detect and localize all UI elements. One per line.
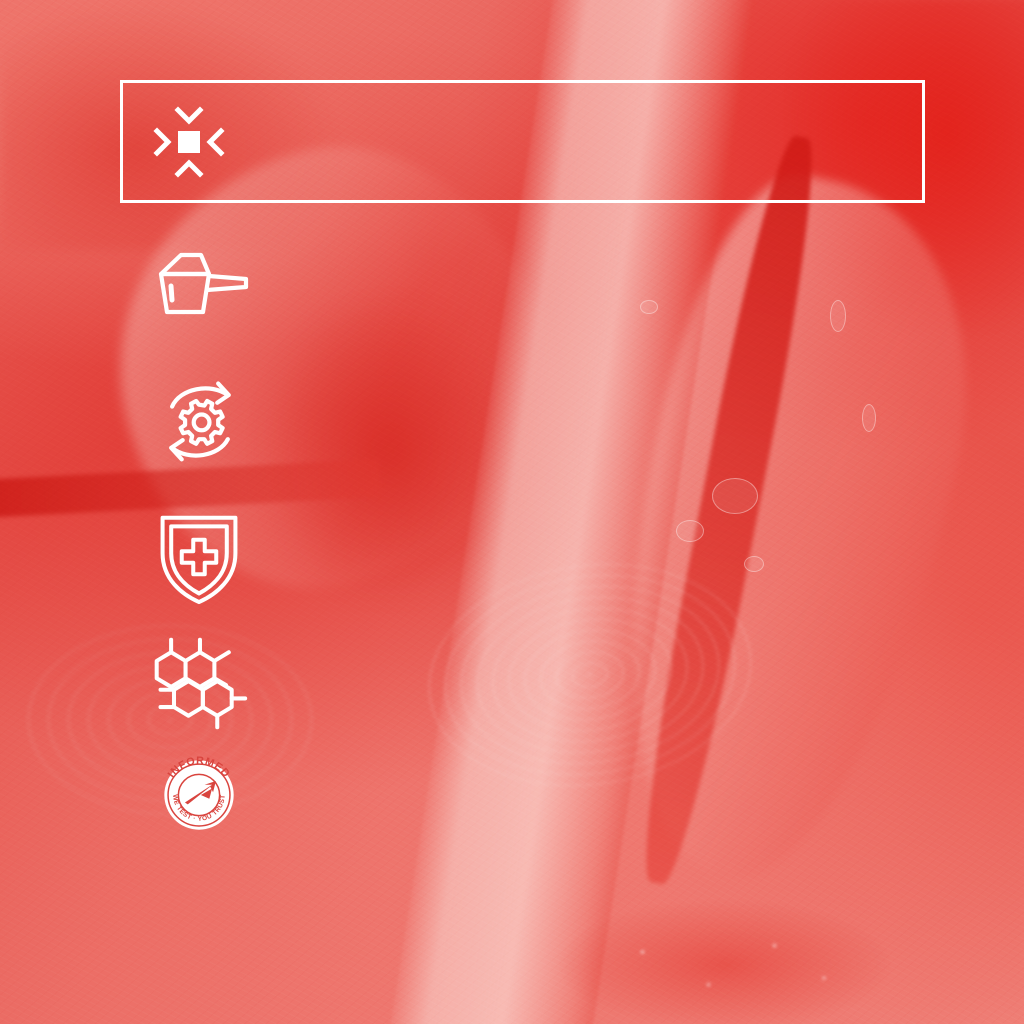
header-box xyxy=(120,80,925,203)
informed-sport-badge-icon: INFORMED WE TEST · YOU TRUST xyxy=(143,758,255,854)
focus-brackets-icon xyxy=(147,100,231,184)
benefit-item xyxy=(0,510,1024,606)
benefit-item xyxy=(0,240,1024,336)
shield-plus-icon xyxy=(143,510,255,606)
benefit-label xyxy=(255,510,280,514)
benefits-list: INFORMED WE TEST · YOU TRUST xyxy=(0,240,1024,898)
benefit-item xyxy=(0,372,1024,468)
benefit-label xyxy=(255,240,280,262)
benefit-item: INFORMED WE TEST · YOU TRUST xyxy=(0,758,1024,854)
benefit-item xyxy=(0,636,1024,732)
benefit-label xyxy=(255,372,280,394)
gear-recovery-icon xyxy=(143,372,255,468)
scoop-icon xyxy=(143,240,255,336)
molecule-hexagons-icon xyxy=(143,636,255,732)
benefit-label xyxy=(255,636,280,640)
key-benefits-panel: INFORMED WE TEST · YOU TRUST xyxy=(0,0,1024,1024)
